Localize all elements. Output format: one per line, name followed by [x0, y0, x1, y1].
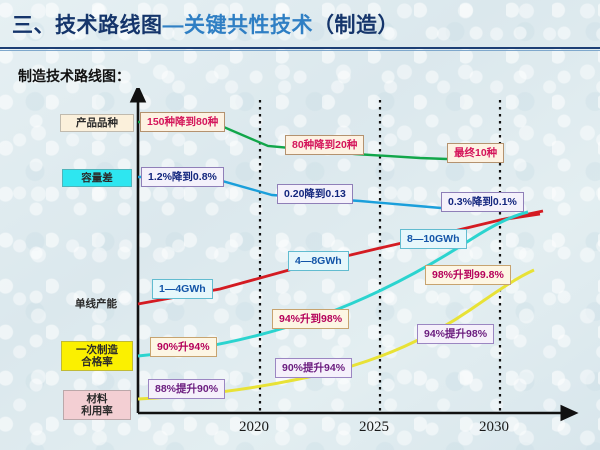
slide-header: 三、技术路线图—关键共性技术（制造）	[0, 0, 600, 52]
axis-label-line-capacity: 单线产能	[58, 296, 134, 312]
callout-yield-3: 98%升到99.8%	[425, 265, 511, 285]
page-title-lead: 三、技术路线图	[12, 14, 163, 37]
axis-label-text: 一次制造	[67, 344, 127, 356]
callout-material-1: 88%提升90%	[148, 379, 225, 399]
callout-gwh-2: 4—8GWh	[288, 251, 349, 271]
axis-label-capacity-spread: 容量差	[62, 169, 132, 187]
callout-capacity-2: 0.20降到0.13	[277, 184, 353, 204]
page-title: 三、技术路线图—关键共性技术（制造）	[12, 9, 399, 39]
axis-label-first-pass-yield: 一次制造 合格率	[61, 341, 133, 371]
year-label-2020: 2020	[239, 419, 269, 436]
axis-label-text: 容量差	[68, 172, 126, 184]
year-label-2025: 2025	[359, 419, 389, 436]
header-divider-thin	[0, 50, 600, 51]
roadmap-chart: 产品品种 容量差 单线产能 一次制造 合格率 材料 利用率 2020 2025 …	[0, 88, 600, 450]
callout-variety-2: 80种降到20种	[285, 135, 364, 155]
axis-label-text: 单线产能	[63, 298, 129, 310]
callout-capacity-3: 0.3%降到0.1%	[441, 192, 524, 212]
year-label-2030: 2030	[479, 419, 509, 436]
callout-capacity-1: 1.2%降到0.8%	[141, 167, 224, 187]
axis-label-text: 材料	[69, 393, 125, 405]
axis-label-text-2: 合格率	[67, 356, 127, 368]
axis-label-product-variety: 产品品种	[60, 114, 134, 132]
callout-yield-2: 94%升到98%	[272, 309, 349, 329]
page-title-accent: —关键共性技术	[163, 14, 314, 37]
axis-label-text: 产品品种	[66, 117, 128, 129]
callout-material-3: 94%提升98%	[417, 324, 494, 344]
chart-subtitle: 制造技术路线图：	[18, 66, 130, 86]
callout-variety-1: 150种降到80种	[140, 112, 225, 132]
callout-yield-1: 90%升94%	[150, 337, 217, 357]
axis-label-material-usage: 材料 利用率	[63, 390, 131, 420]
header-divider-thick	[0, 47, 600, 49]
callout-variety-3: 最终10种	[447, 143, 504, 163]
page-title-tail: （制造）	[313, 14, 399, 37]
callout-gwh-3: 8—10GWh	[400, 229, 467, 249]
callout-material-2: 90%提升94%	[275, 358, 352, 378]
callout-gwh-1: 1—4GWh	[152, 279, 213, 299]
axis-label-text-2: 利用率	[69, 405, 125, 417]
